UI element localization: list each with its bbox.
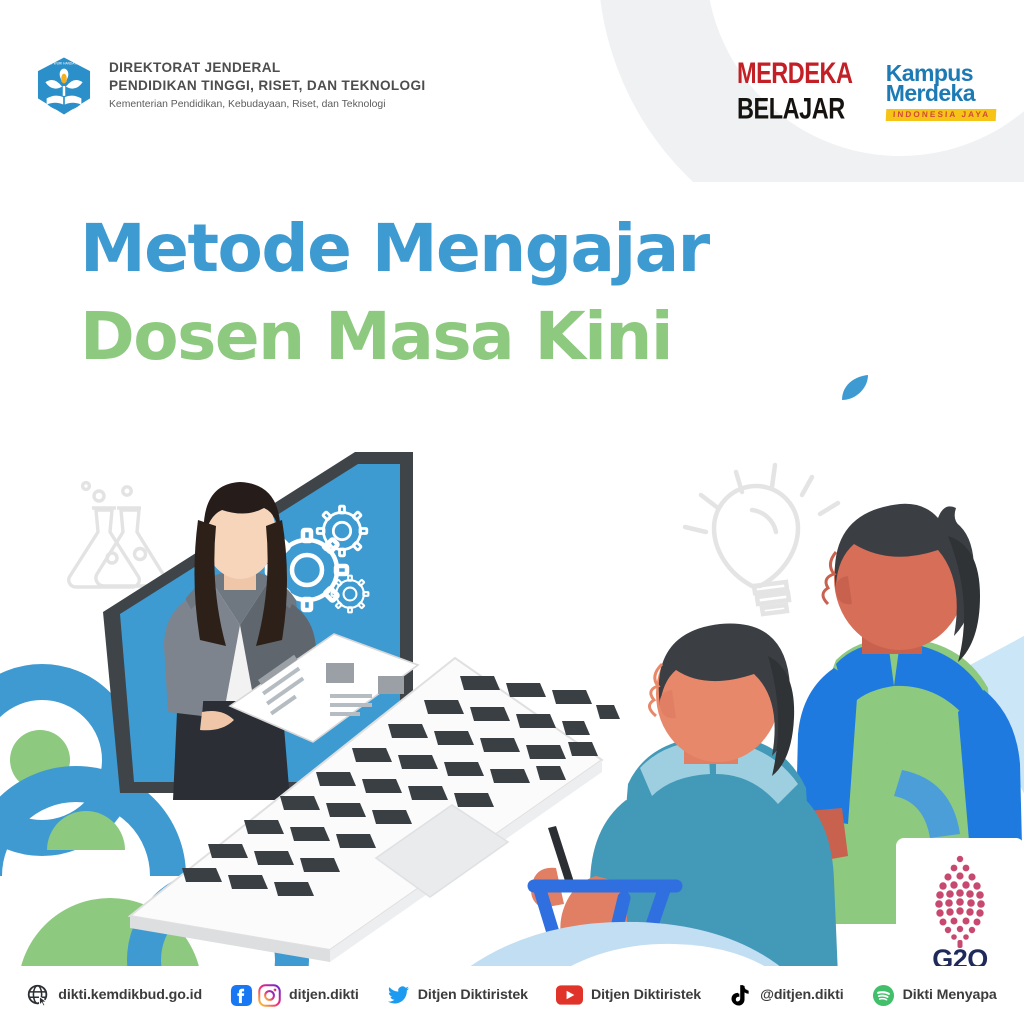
- merdeka-belajar-logo: MERDEKA BELAJAR: [737, 64, 860, 120]
- ministry-text: DIREKTORAT JENDERAL PENDIDIKAN TINGGI, R…: [109, 59, 426, 112]
- ministry-line-3: Kementerian Pendidikan, Kebudayaan, Rise…: [109, 97, 426, 113]
- footer-label-tiktok: @ditjen.dikti: [760, 987, 843, 1003]
- kampus-merdeka-tagline: INDONESIA JAYA: [885, 109, 996, 121]
- laboratory-flasks-icon: [69, 483, 164, 587]
- footer-item-facebook-instagram[interactable]: ditjen.dikti: [216, 984, 373, 1007]
- facebook-icon: [230, 984, 253, 1007]
- footer-item-youtube[interactable]: Ditjen Diktiristek: [542, 985, 715, 1005]
- program-logos: MERDEKA BELAJAR Kampus Merdeka INDONESIA…: [737, 62, 996, 121]
- poster-title: Metode Mengajar Dosen Masa Kini: [80, 205, 709, 381]
- footer-label-ditjen-dikti: ditjen.dikti: [289, 987, 359, 1003]
- directorate-line-2: PENDIDIKAN TINGGI, RISET, DAN TEKNOLOGI: [109, 77, 426, 95]
- footer-item-website[interactable]: dikti.kemdikbud.go.id: [13, 984, 216, 1007]
- poster-header: TUT WURI HANDAYANI DIREKTORAT JENDERAL P…: [0, 0, 1024, 170]
- g20-logo: G2O INDONESIA 2022: [902, 846, 1018, 982]
- globe-website-icon: [27, 984, 50, 1007]
- title-line-1: Metode Mengajar: [80, 205, 709, 293]
- footer-item-twitter[interactable]: Ditjen Diktiristek: [373, 984, 542, 1007]
- g20-gunungan-ornament: [935, 854, 985, 948]
- footer-label-website: dikti.kemdikbud.go.id: [58, 987, 202, 1003]
- tut-wuri-handayani-logo: TUT WURI HANDAYANI: [33, 55, 95, 117]
- twitter-icon: [387, 984, 410, 1007]
- tiktok-icon: [729, 984, 752, 1007]
- leaf-accent-icon: [838, 372, 872, 406]
- directorate-line-1: DIREKTORAT JENDERAL: [109, 59, 426, 77]
- instagram-icon: [258, 984, 281, 1007]
- spotify-icon: [872, 984, 895, 1007]
- poster-canvas: TUT WURI HANDAYANI DIREKTORAT JENDERAL P…: [0, 0, 1024, 1024]
- youtube-icon: [556, 985, 583, 1005]
- footer-item-tiktok[interactable]: @ditjen.dikti: [715, 984, 857, 1007]
- merdeka-belajar-line1: MERDEKA: [737, 59, 853, 89]
- footer-label-twitter: Ditjen Diktiristek: [418, 987, 528, 1003]
- kampus-merdeka-line2: Merdeka: [886, 82, 996, 105]
- kampus-merdeka-logo: Kampus Merdeka INDONESIA JAYA: [886, 62, 996, 121]
- footer-item-spotify[interactable]: Dikti Menyapa: [858, 984, 1011, 1007]
- facebook-instagram-icon: [230, 984, 281, 1007]
- footer-label-spotify: Dikti Menyapa: [903, 987, 997, 1003]
- title-line-2: Dosen Masa Kini: [80, 293, 709, 381]
- merdeka-belajar-line2: BELAJAR: [737, 95, 853, 125]
- lightbulb-idea-icon: [685, 465, 838, 614]
- footer-label-youtube: Ditjen Diktiristek: [591, 987, 701, 1003]
- social-media-footer: dikti.kemdikbud.go.id: [0, 966, 1024, 1024]
- ministry-branding: TUT WURI HANDAYANI DIREKTORAT JENDERAL P…: [33, 55, 426, 117]
- svg-text:TUT WURI HANDAYANI: TUT WURI HANDAYANI: [47, 61, 82, 65]
